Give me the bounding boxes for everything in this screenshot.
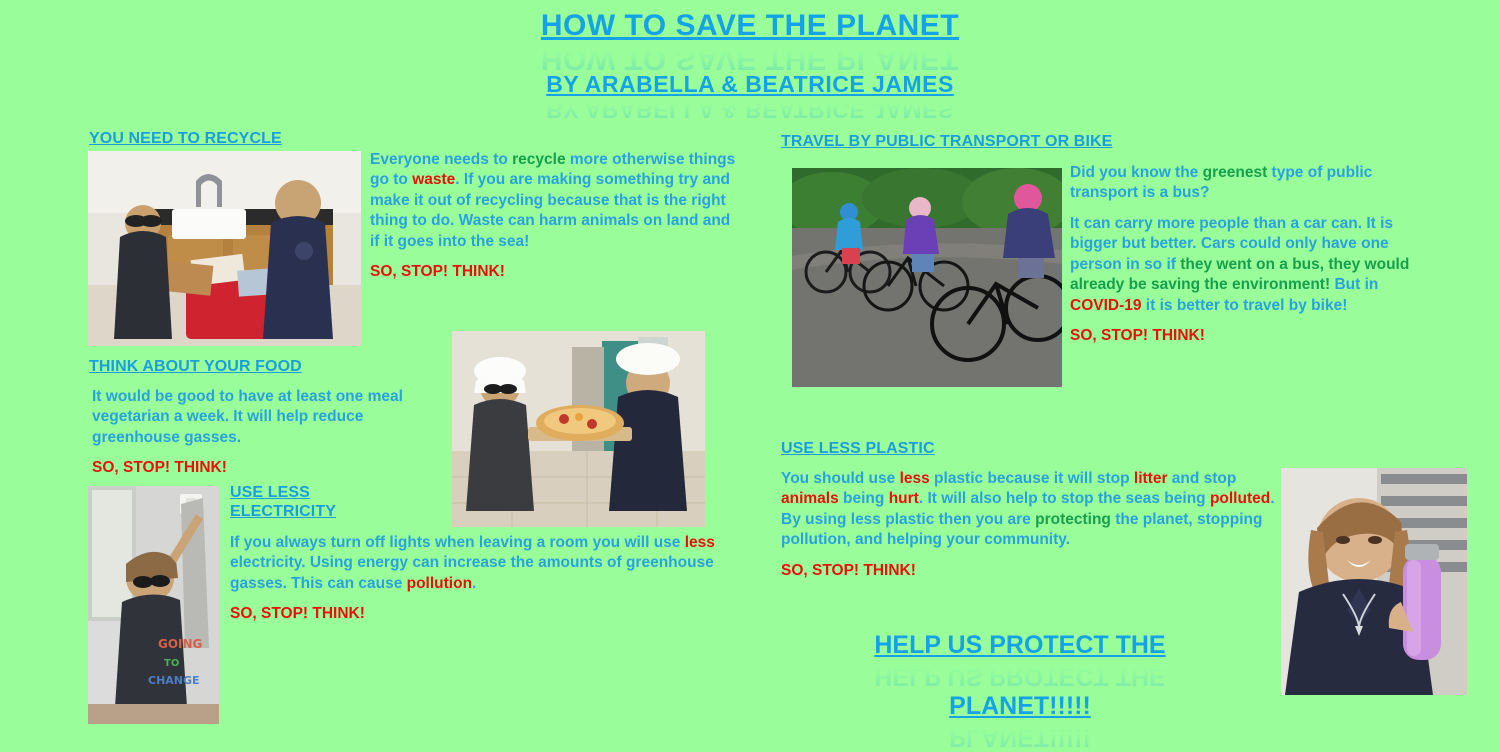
photo-bikes xyxy=(792,168,1062,387)
text-run-red: polluted xyxy=(1210,490,1270,507)
svg-text:CHANGE: CHANGE xyxy=(148,674,200,687)
text-run-blue: But in xyxy=(1330,276,1378,293)
subtitle-block: BY ARABELLA & BEATRICE JAMES BY ARABELLA… xyxy=(0,72,1500,122)
text-run-blue: . It will also help to stop the seas bei… xyxy=(919,490,1210,507)
paragraph-travel-text-2: It can carry more people than a car can.… xyxy=(1070,214,1430,316)
text-run-red: waste xyxy=(412,171,455,188)
closing-message-block: HELP US PROTECT THE HELP US PROTECT THE … xyxy=(780,630,1260,752)
photo-light-switch: GOING TO CHANGE xyxy=(88,486,219,724)
cta-food: SO, STOP! THINK! xyxy=(92,458,422,478)
text-run-red: hurt xyxy=(889,490,919,507)
heading-recycle: YOU NEED TO RECYCLE xyxy=(89,130,282,149)
heading-food: THINK ABOUT YOUR FOOD xyxy=(89,358,302,377)
photo-pizza xyxy=(452,331,705,527)
paragraph-travel-text-1: Did you know the greenest type of public… xyxy=(1070,163,1430,204)
text-run-green: greenest xyxy=(1203,164,1268,181)
text-run-blue: being xyxy=(839,490,889,507)
text-run-blue: You should use xyxy=(781,470,900,487)
paragraph-food-text: It would be good to have at least one me… xyxy=(92,387,422,448)
closing-line-1: HELP US PROTECT THE xyxy=(780,630,1260,661)
svg-text:GOING: GOING xyxy=(158,637,202,651)
page-title: HOW TO SAVE THE PLANET xyxy=(0,10,1500,42)
text-run-green: recycle xyxy=(512,151,565,168)
text-run-red: less xyxy=(685,534,715,551)
text-run-red: litter xyxy=(1134,470,1168,487)
poster-canvas: HOW TO SAVE THE PLANET HOW TO SAVE THE P… xyxy=(0,0,1500,750)
paragraph-electricity: If you always turn off lights when leavi… xyxy=(230,533,720,625)
text-run-blue: Everyone needs to xyxy=(370,151,512,168)
paragraph-recycle-text: Everyone needs to recycle more otherwise… xyxy=(370,150,740,252)
paragraph-electricity-text: If you always turn off lights when leavi… xyxy=(230,533,720,594)
text-run-red: animals xyxy=(781,490,839,507)
page-subtitle: BY ARABELLA & BEATRICE JAMES xyxy=(0,72,1500,97)
paragraph-plastic: You should use less plastic because it w… xyxy=(781,469,1276,581)
photo-recycling xyxy=(88,151,361,346)
paragraph-recycle: Everyone needs to recycle more otherwise… xyxy=(370,150,740,283)
cta-recycle: SO, STOP! THINK! xyxy=(370,262,740,282)
text-run-red: less xyxy=(900,470,930,487)
heading-electricity-line2: ELECTRICITY xyxy=(230,503,336,520)
heading-electricity-line1: USE LESS xyxy=(230,484,310,501)
svg-text:TO: TO xyxy=(164,658,179,669)
page-subtitle-reflection: BY ARABELLA & BEATRICE JAMES xyxy=(0,97,1500,122)
text-run-blue: . xyxy=(472,575,476,592)
text-run-red: pollution xyxy=(407,575,472,592)
text-run-blue: It would be good to have at least one me… xyxy=(92,388,403,446)
text-run-blue: plastic because it will stop xyxy=(930,470,1134,487)
text-run-blue: Did you know the xyxy=(1070,164,1203,181)
heading-travel: TRAVEL BY PUBLIC TRANSPORT OR BIKE xyxy=(781,133,1112,152)
main-title-block: HOW TO SAVE THE PLANET HOW TO SAVE THE P… xyxy=(0,10,1500,75)
closing-line-1-reflection: HELP US PROTECT THE xyxy=(780,661,1260,692)
closing-line-2-reflection: PLANET!!!!! xyxy=(780,722,1260,752)
closing-line-2: PLANET!!!!! xyxy=(780,691,1260,722)
paragraph-travel: Did you know the greenest type of public… xyxy=(1070,163,1430,347)
text-run-blue: it is better to travel by bike! xyxy=(1142,297,1348,314)
page-title-reflection: HOW TO SAVE THE PLANET xyxy=(0,42,1500,74)
heading-electricity: USE LESS ELECTRICITY xyxy=(230,484,410,522)
paragraph-plastic-text: You should use less plastic because it w… xyxy=(781,469,1276,551)
photo-water-bottle xyxy=(1281,468,1467,695)
text-run-blue: and stop xyxy=(1167,470,1236,487)
text-run-red: COVID-19 xyxy=(1070,297,1142,314)
paragraph-food: It would be good to have at least one me… xyxy=(92,387,422,479)
cta-travel: SO, STOP! THINK! xyxy=(1070,326,1430,346)
heading-plastic: USE LESS PLASTIC xyxy=(781,440,935,459)
cta-plastic: SO, STOP! THINK! xyxy=(781,561,1276,581)
text-run-blue: If you always turn off lights when leavi… xyxy=(230,534,685,551)
cta-electricity: SO, STOP! THINK! xyxy=(230,604,720,624)
text-run-green: protecting xyxy=(1035,511,1111,528)
